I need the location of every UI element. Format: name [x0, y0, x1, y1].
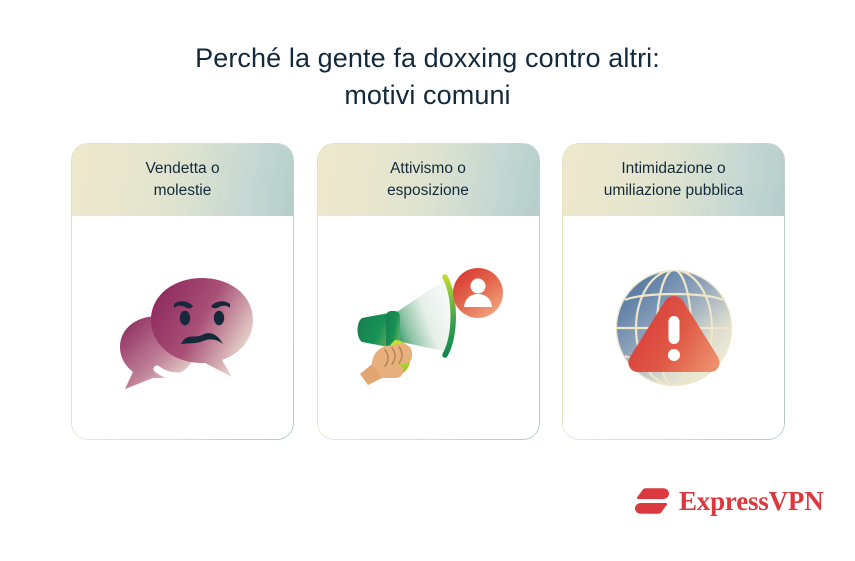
card-intimidazione-header-label: Intimidazione o umiliazione pubblica — [594, 158, 754, 202]
expressvpn-logo-mark — [634, 485, 670, 517]
expressvpn-logo[interactable]: ExpressVPN — [634, 485, 824, 517]
card-attivismo-header-line-1: Attivismo o — [390, 160, 466, 177]
card-vendetta: Vendetta o molestie — [71, 143, 294, 440]
card-intimidazione-header-line-1: Intimidazione o — [621, 160, 725, 177]
card-attivismo: Attivismo o esposizione — [317, 143, 540, 440]
card-attivismo-header-line-2: esposizione — [387, 182, 469, 199]
expressvpn-wordmark: ExpressVPN — [679, 488, 824, 515]
card-attivismo-body — [318, 216, 539, 439]
megaphone-with-avatar-icon — [352, 260, 504, 395]
card-attivismo-header: Attivismo o esposizione — [318, 144, 539, 216]
card-vendetta-header-line-1: Vendetta o — [145, 160, 219, 177]
card-vendetta-body — [72, 216, 293, 439]
exclamation-bar — [668, 316, 679, 344]
card-intimidazione-body — [563, 216, 784, 439]
reasons-card-row: Vendetta o molestie — [71, 143, 785, 440]
card-attivismo-header-label: Attivismo o esposizione — [377, 158, 479, 202]
page-title-line-1: Perché la gente fa doxxing contro altri: — [0, 40, 855, 77]
card-vendetta-header-line-2: molestie — [154, 182, 212, 199]
card-vendetta-header: Vendetta o molestie — [72, 144, 293, 216]
card-vendetta-header-label: Vendetta o molestie — [135, 158, 229, 202]
person-avatar-icon — [453, 268, 503, 318]
card-intimidazione-header: Intimidazione o umiliazione pubblica — [563, 144, 784, 216]
card-intimidazione-header-line-2: umiliazione pubblica — [604, 182, 744, 199]
card-intimidazione: Intimidazione o umiliazione pubblica — [562, 143, 785, 440]
angry-speech-bubbles-icon — [113, 265, 253, 390]
exclamation-dot — [668, 349, 680, 361]
page-title-line-2: motivi comuni — [0, 77, 855, 114]
page-title: Perché la gente fa doxxing contro altri:… — [0, 40, 855, 115]
globe-warning-icon — [610, 264, 738, 392]
